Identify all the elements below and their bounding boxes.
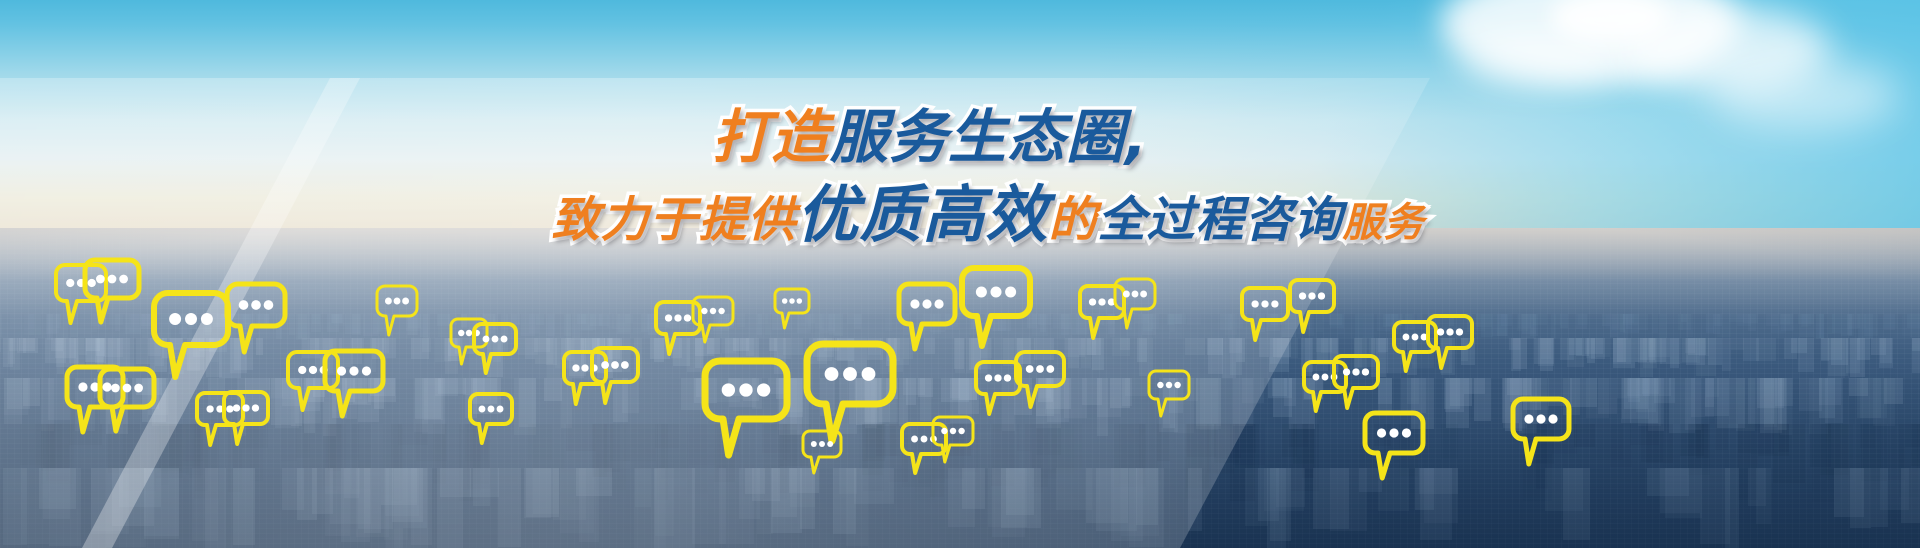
chat-bubble-outline bbox=[100, 369, 154, 431]
chat-bubble-dot bbox=[1123, 291, 1130, 298]
chat-bubble-dot bbox=[1536, 414, 1545, 423]
chat-bubble-dot bbox=[950, 428, 956, 434]
chat-bubble-dot bbox=[1140, 291, 1147, 298]
chat-bubble-dot bbox=[458, 330, 464, 336]
chat-bubble-outline bbox=[325, 351, 383, 416]
chat-bubble-dot bbox=[1524, 414, 1533, 423]
chat-bubble-dot bbox=[827, 441, 833, 447]
chat-bubble-dot bbox=[1456, 328, 1463, 335]
chat-bubble-dot bbox=[1036, 365, 1044, 373]
chat-bubble-icon bbox=[466, 390, 516, 447]
chat-bubble-dot bbox=[911, 436, 918, 443]
chat-bubble-icon bbox=[1238, 284, 1292, 344]
chat-bubble-icon bbox=[320, 346, 388, 421]
chat-bubble-outline bbox=[962, 268, 1030, 346]
chat-bubble-outline bbox=[705, 361, 787, 455]
chat-bubble-icon bbox=[1146, 368, 1192, 419]
chat-bubble-dot bbox=[994, 374, 1001, 381]
chat-bubble-dot bbox=[264, 300, 274, 310]
chat-bubble-dot bbox=[134, 384, 143, 393]
chat-bubble-dot bbox=[362, 366, 371, 375]
chat-bubble-icon bbox=[698, 354, 794, 462]
chat-bubble-dot bbox=[572, 364, 579, 371]
chat-bubble-dot bbox=[123, 384, 132, 393]
chat-bubble-dot bbox=[1299, 292, 1306, 299]
chat-bubble-icon bbox=[894, 279, 960, 354]
chat-bubble-dot bbox=[492, 336, 499, 343]
chat-bubble-dot bbox=[1166, 382, 1172, 388]
chat-bubble-dot bbox=[488, 406, 495, 413]
chat-bubble-dot bbox=[1548, 414, 1557, 423]
chat-bubble-icon bbox=[1424, 312, 1476, 372]
chat-bubble-dot bbox=[1308, 292, 1315, 299]
chat-bubble-outline bbox=[154, 293, 228, 377]
chat-bubble-outline bbox=[1290, 280, 1334, 332]
chat-bubble-outline bbox=[1428, 316, 1472, 368]
chat-bubble-icon bbox=[470, 320, 520, 377]
chat-bubble-outline bbox=[775, 289, 809, 328]
chat-bubble-dot bbox=[402, 298, 409, 305]
chat-bubble-icon bbox=[1508, 394, 1574, 469]
chat-bubble-outline bbox=[1513, 399, 1569, 464]
chat-bubble-icon bbox=[95, 364, 159, 436]
chat-bubble-icon bbox=[1360, 408, 1428, 483]
chat-bubble-icon bbox=[930, 414, 976, 465]
chat-bubble-dot bbox=[1389, 428, 1398, 437]
chat-bubble-outline bbox=[1115, 279, 1155, 328]
chat-bubble-dot bbox=[1322, 374, 1329, 381]
chat-bubble-dot bbox=[251, 300, 261, 310]
chat-bubble-dot bbox=[242, 404, 249, 411]
chat-bubble-dot bbox=[922, 299, 931, 308]
chat-bubble-dot bbox=[185, 313, 197, 325]
chat-bubble-dot bbox=[665, 314, 672, 321]
chat-bubble-dot bbox=[66, 279, 74, 287]
chat-bubble-dot bbox=[674, 314, 681, 321]
chat-bubble-dot bbox=[206, 405, 213, 412]
chat-bubble-dot bbox=[239, 300, 249, 310]
chat-bubble-icon bbox=[222, 279, 290, 357]
chat-bubble-dot bbox=[479, 406, 486, 413]
chat-bubble-dot bbox=[201, 313, 213, 325]
chat-bubble-dot bbox=[1412, 334, 1419, 341]
chat-bubble-dot bbox=[497, 406, 504, 413]
chat-bubble-dot bbox=[298, 366, 306, 374]
chat-bubble-dot bbox=[985, 374, 992, 381]
chat-bubble-dot bbox=[1089, 298, 1096, 305]
chat-bubble-dot bbox=[701, 308, 707, 314]
chat-bubble-dot bbox=[385, 298, 392, 305]
chat-bubble-dot bbox=[718, 308, 724, 314]
chat-bubble-outline bbox=[803, 431, 841, 473]
chat-bubble-dot bbox=[910, 299, 919, 308]
chat-bubble-outline bbox=[807, 344, 893, 441]
chat-bubble-outline bbox=[224, 392, 268, 444]
chat-bubble-dot bbox=[941, 428, 947, 434]
chat-bubble-outline bbox=[85, 260, 139, 322]
chat-bubble-dot bbox=[1004, 374, 1011, 381]
chat-bubble-dot bbox=[843, 367, 857, 381]
chat-bubble-dot bbox=[601, 361, 609, 369]
chat-bubble-dot bbox=[394, 298, 401, 305]
chat-bubble-icon bbox=[80, 255, 144, 327]
chat-bubble-dot bbox=[119, 275, 128, 284]
chat-bubble-dot bbox=[78, 382, 87, 391]
chat-bubble-dot bbox=[1005, 286, 1016, 297]
chat-bubble-dot bbox=[621, 361, 629, 369]
chat-bubble-outline bbox=[693, 297, 733, 342]
chat-bubble-dot bbox=[722, 383, 735, 396]
chat-bubble-outline bbox=[227, 284, 285, 352]
chat-bubble-dot bbox=[825, 367, 839, 381]
promo-banner: 打造服务生态圈, 致力于提供优质高效的全过程咨询服务 bbox=[0, 0, 1920, 548]
chat-bubble-icon bbox=[588, 344, 642, 407]
chat-bubble-outline bbox=[933, 417, 973, 462]
chat-bubble-dot bbox=[96, 275, 105, 284]
chat-bubble-dot bbox=[309, 366, 317, 374]
chat-bubble-dot bbox=[976, 286, 987, 297]
chat-bubble-outline bbox=[1242, 288, 1288, 340]
chat-bubble-icon bbox=[1012, 348, 1068, 411]
chat-bubble-dot bbox=[1261, 300, 1268, 307]
chat-bubble-dot bbox=[111, 384, 120, 393]
chat-bubble-dot bbox=[1402, 428, 1411, 437]
chat-bubble-icon bbox=[772, 286, 812, 331]
chat-bubble-dot bbox=[1403, 334, 1410, 341]
chat-bubble-icon bbox=[956, 262, 1036, 352]
chat-bubble-dot bbox=[1251, 300, 1258, 307]
chat-bubble-icon bbox=[690, 294, 736, 345]
chat-bubble-icon bbox=[374, 283, 420, 338]
chat-bubble-dot bbox=[1271, 300, 1278, 307]
chat-bubble-outline bbox=[592, 348, 638, 403]
chat-bubble-dot bbox=[252, 404, 259, 411]
chat-bubble-dot bbox=[990, 286, 1001, 297]
chat-bubble-dot bbox=[1446, 328, 1453, 335]
chat-bubble-dot bbox=[108, 275, 117, 284]
chat-bubble-dot bbox=[1437, 328, 1444, 335]
chat-bubble-icon bbox=[800, 428, 844, 476]
chat-bubble-dot bbox=[1132, 291, 1139, 298]
chat-bubble-dot bbox=[921, 436, 928, 443]
chat-bubble-dot bbox=[1174, 382, 1180, 388]
cloud-icon bbox=[1710, 60, 1900, 130]
chat-bubble-dot bbox=[1318, 292, 1325, 299]
chat-bubble-dot bbox=[789, 298, 795, 304]
chat-bubble-outline bbox=[474, 324, 516, 373]
chat-bubble-outline bbox=[1149, 371, 1189, 416]
chat-bubble-dot bbox=[958, 428, 964, 434]
chat-bubble-dot bbox=[1026, 365, 1034, 373]
chat-bubble-icon bbox=[1330, 352, 1382, 412]
chat-bubble-outline bbox=[377, 286, 417, 335]
chat-bubble-dot bbox=[1362, 368, 1369, 375]
chat-bubble-dot bbox=[169, 313, 181, 325]
chat-bubble-dot bbox=[1313, 374, 1320, 381]
chat-bubble-dot bbox=[1046, 365, 1054, 373]
chat-bubble-dot bbox=[349, 366, 358, 375]
chat-bubble-dot bbox=[739, 383, 752, 396]
chat-bubble-dot bbox=[710, 308, 716, 314]
chat-bubble-dot bbox=[811, 441, 817, 447]
chat-bubble-dot bbox=[337, 366, 346, 375]
chat-bubble-outline bbox=[1365, 413, 1423, 478]
chat-bubble-icon bbox=[1286, 276, 1338, 336]
chat-bubble-icon bbox=[1112, 276, 1158, 331]
chat-bubble-outline bbox=[899, 284, 955, 349]
chat-bubble-dot bbox=[1157, 382, 1163, 388]
chat-bubble-dot bbox=[483, 336, 490, 343]
chat-bubble-dot bbox=[233, 404, 240, 411]
chat-bubble-dot bbox=[819, 441, 825, 447]
chat-bubble-dot bbox=[611, 361, 619, 369]
chat-bubble-dot bbox=[1377, 428, 1386, 437]
chat-bubble-dot bbox=[797, 298, 803, 304]
chat-bubble-icon bbox=[220, 388, 272, 448]
chat-bubble-outline bbox=[1016, 352, 1064, 407]
chat-bubble-dot bbox=[757, 383, 770, 396]
chat-bubble-dot bbox=[1352, 368, 1359, 375]
chat-bubble-outline bbox=[470, 394, 512, 443]
chat-bubble-dot bbox=[1343, 368, 1350, 375]
chat-bubble-dot bbox=[501, 336, 508, 343]
chat-bubble-outline bbox=[1334, 356, 1378, 408]
chat-bubble-dot bbox=[862, 367, 876, 381]
chat-bubble-dot bbox=[1098, 298, 1105, 305]
chat-bubble-dot bbox=[934, 299, 943, 308]
chat-bubble-dot bbox=[782, 298, 788, 304]
